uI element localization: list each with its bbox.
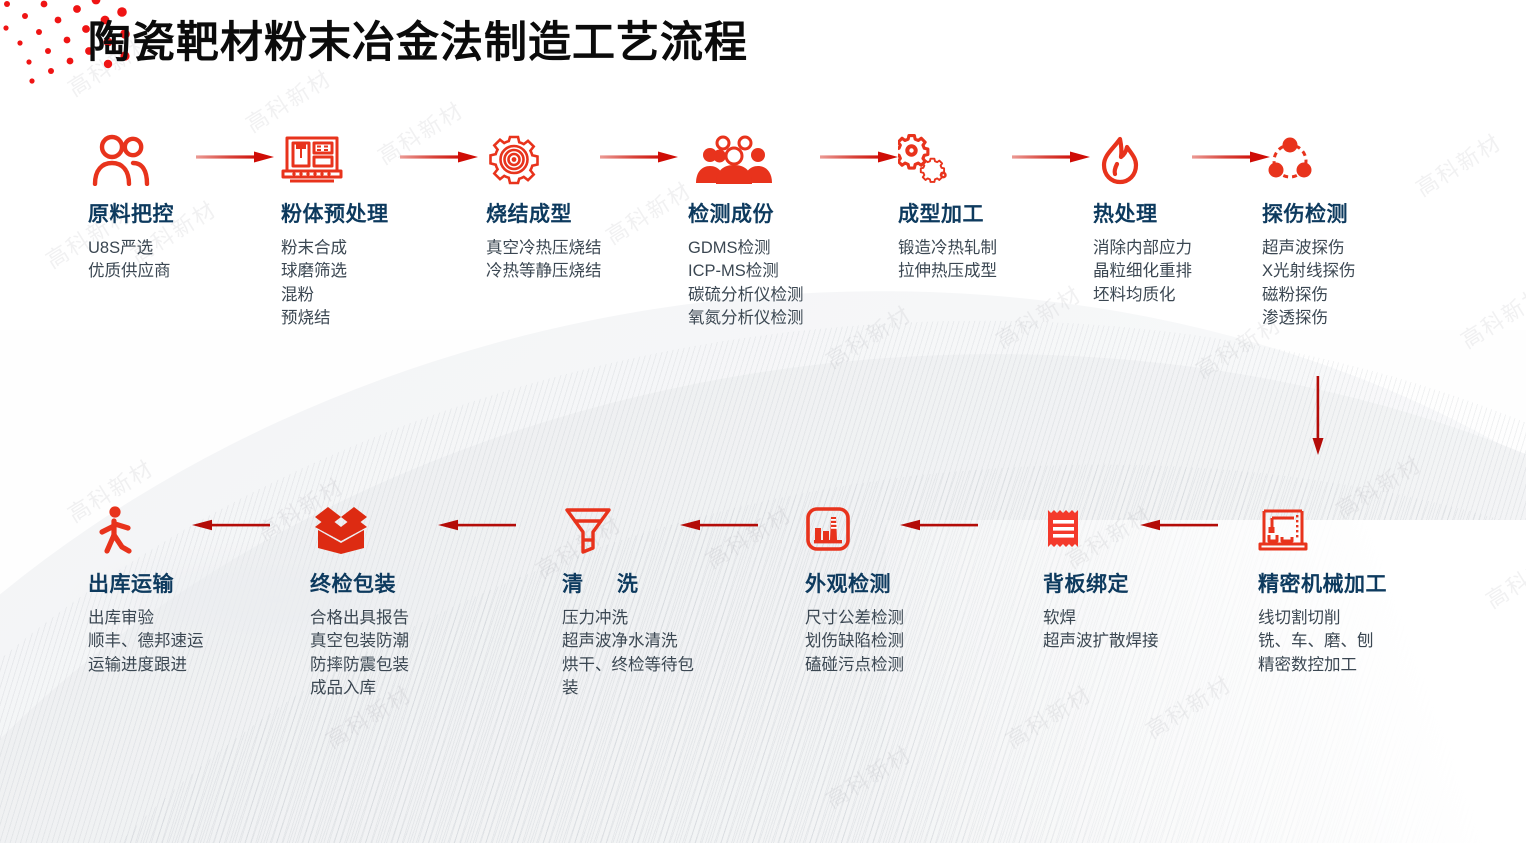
flow-node-details: 锻造冷热轧制 拉伸热压成型 (898, 237, 1108, 284)
detail-item: 装 (562, 677, 772, 700)
detail-item: GDMS检测 (688, 237, 898, 260)
detail-item: X光射线探伤 (1262, 260, 1472, 283)
detail-item: U8S严选 (88, 237, 298, 260)
flow-node-details: 线切割切削 铣、车、磨、刨 精密数控加工 (1258, 607, 1468, 677)
page-title: 陶瓷靶材粉末冶金法制造工艺流程 (88, 8, 748, 70)
flow-node-title: 粉体预处理 (281, 198, 491, 228)
detail-item: 软焊 (1043, 607, 1253, 630)
arrow-left-icon (900, 518, 978, 532)
flow-node-title: 成型加工 (898, 198, 1108, 228)
flow-node-details: 合格出具报告 真空包装防潮 防摔防震包装 成品入库 (310, 607, 520, 701)
flow-node-flaw-detection[interactable]: 探伤检测 超声波探伤 X光射线探伤 磁粉探伤 渗透探伤 (1262, 130, 1472, 331)
detail-item: 磕碰污点检测 (805, 654, 1015, 677)
detail-item: 出库审验 (88, 607, 298, 630)
detail-item: 超声波净水清洗 (562, 630, 772, 653)
detail-item: 碳硫分析仪检测 (688, 284, 898, 307)
detail-item: 真空冷热压烧结 (486, 237, 696, 260)
slide-canvas: 高科新材 高科新材 高科新材 高科新材 高科新材 高科新材 高科新材 高科新材 … (0, 0, 1526, 843)
detail-item: 渗透探伤 (1262, 307, 1472, 330)
flow-node-details: 软焊 超声波扩散焊接 (1043, 607, 1253, 654)
detail-item: 优质供应商 (88, 260, 298, 283)
arrow-right-icon (196, 150, 274, 164)
flow-node-title: 终检包装 (310, 568, 520, 598)
arrow-right-icon (1012, 150, 1090, 164)
detail-item: 真空包装防潮 (310, 630, 520, 653)
detail-item: 铣、车、磨、刨 (1258, 630, 1468, 653)
watermark: 高科新材 (1479, 537, 1526, 615)
flow-node-title: 原料把控 (88, 198, 298, 228)
detail-item: 精密数控加工 (1258, 654, 1468, 677)
detail-item: 运输进度跟进 (88, 654, 298, 677)
flow-node-details: 粉末合成 球磨筛选 混粉 预烧结 (281, 237, 491, 331)
detail-item: 压力冲洗 (562, 607, 772, 630)
detail-item: 氧氮分析仪检测 (688, 307, 898, 330)
flow-node-title: 精密机械加工 (1258, 568, 1468, 598)
arrow-right-icon (400, 150, 478, 164)
flow-node-title: 清 洗 (562, 568, 772, 598)
flow-node-precision-machining[interactable]: 精密机械加工 线切割切削 铣、车、磨、刨 精密数控加工 (1258, 500, 1468, 677)
arrow-left-icon (438, 518, 516, 532)
detail-item: 尺寸公差检测 (805, 607, 1015, 630)
flow-node-title: 出库运输 (88, 568, 298, 598)
detail-item: 粉末合成 (281, 237, 491, 260)
flow-node-details: U8S严选 优质供应商 (88, 237, 298, 284)
arrow-left-icon (1140, 518, 1218, 532)
detail-item: 顺丰、德邦速运 (88, 630, 298, 653)
watermark-layer: 高科新材 高科新材 高科新材 高科新材 高科新材 高科新材 高科新材 高科新材 … (0, 0, 1526, 843)
detail-item: 混粉 (281, 284, 491, 307)
three-dots-share-icon (1262, 130, 1472, 186)
watermark: 高科新材 (989, 277, 1087, 355)
flow-node-details: 压力冲洗 超声波净水清洗 烘干、终检等待包 装 (562, 607, 772, 701)
arrow-left-icon (192, 518, 270, 532)
detail-item: 超声波扩散焊接 (1043, 630, 1253, 653)
detail-item: 线切割切削 (1258, 607, 1468, 630)
flow-node-details: 出库审验 顺丰、德邦速运 运输进度跟进 (88, 607, 298, 677)
detail-item: 合格出具报告 (310, 607, 520, 630)
watermark: 高科新材 (1139, 667, 1237, 745)
detail-item: 拉伸热压成型 (898, 260, 1108, 283)
watermark: 高科新材 (999, 677, 1097, 755)
watermark: 高科新材 (819, 737, 917, 815)
detail-item: 防摔防震包装 (310, 654, 520, 677)
detail-item: 预烧结 (281, 307, 491, 330)
detail-item: 划伤缺陷检测 (805, 630, 1015, 653)
flow-node-details: GDMS检测 ICP-MS检测 碳硫分析仪检测 氧氮分析仪检测 (688, 237, 898, 331)
flow-node-title: 探伤检测 (1262, 198, 1472, 228)
arrow-down-icon (1311, 376, 1325, 456)
flow-node-details: 超声波探伤 X光射线探伤 磁粉探伤 渗透探伤 (1262, 237, 1472, 331)
flow-node-details: 尺寸公差检测 划伤缺陷检测 磕碰污点检测 (805, 607, 1015, 677)
detail-item: 锻造冷热轧制 (898, 237, 1108, 260)
detail-item: 超声波探伤 (1262, 237, 1472, 260)
flow-node-title: 背板绑定 (1043, 568, 1253, 598)
arrow-right-icon (1192, 150, 1270, 164)
arrow-right-icon (820, 150, 898, 164)
detail-item: 成品入库 (310, 677, 520, 700)
flow-node-title: 外观检测 (805, 568, 1015, 598)
cnc-machine-icon (1258, 500, 1468, 556)
flow-node-title: 检测成份 (688, 198, 898, 228)
detail-item: ICP-MS检测 (688, 260, 898, 283)
flow-node-title: 烧结成型 (486, 198, 696, 228)
background-decoration (0, 0, 1526, 843)
detail-item: 烘干、终检等待包 (562, 654, 772, 677)
detail-item: 球磨筛选 (281, 260, 491, 283)
arrow-right-icon (600, 150, 678, 164)
watermark: 高科新材 (239, 61, 337, 139)
flow-node-details: 真空冷热压烧结 冷热等静压烧结 (486, 237, 696, 284)
detail-item: 冷热等静压烧结 (486, 260, 696, 283)
detail-item: 磁粉探伤 (1262, 284, 1472, 307)
arrow-left-icon (680, 518, 758, 532)
